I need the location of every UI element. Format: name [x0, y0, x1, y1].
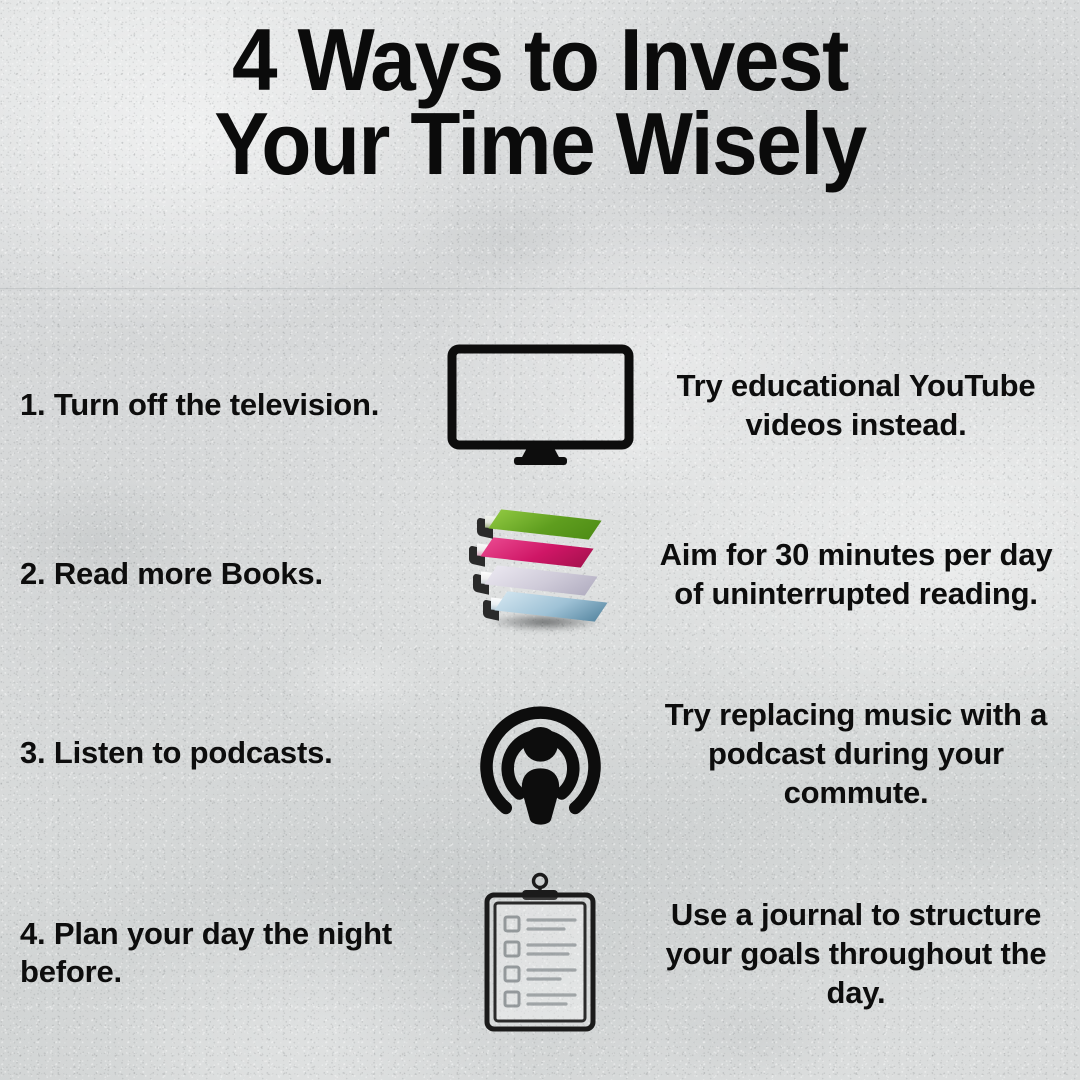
- tip-icon-column: [440, 509, 640, 639]
- tip-left-column: 4. Plan your day the night before.: [0, 915, 440, 991]
- tips-list: 1. Turn off the television. Try educatio…: [0, 318, 1080, 1080]
- tip-title: 2. Read more Books.: [20, 555, 440, 593]
- tip-advice: Aim for 30 minutes per day of uninterrup…: [646, 535, 1066, 613]
- tip-advice: Try educational YouTube videos instead.: [646, 366, 1066, 444]
- page-title: 4 Ways to Invest Your Time Wisely: [0, 18, 1080, 186]
- list-item: 2. Read more Books.: [0, 496, 1080, 651]
- tip-icon-column: [440, 678, 640, 828]
- title-line-1: 4 Ways to Invest: [38, 18, 1042, 102]
- clipboard-checklist-icon: [480, 873, 600, 1033]
- book-blue: [483, 597, 611, 624]
- television-icon: [448, 345, 633, 465]
- list-item: 3. Listen to podcasts.: [0, 663, 1080, 843]
- tip-title: 4. Plan your day the night before.: [20, 915, 440, 991]
- concrete-seam-line: [0, 287, 1080, 290]
- list-item: 4. Plan your day the night before.: [0, 858, 1080, 1048]
- tip-title: 1. Turn off the television.: [20, 386, 440, 424]
- title-line-2: Your Time Wisely: [38, 102, 1042, 186]
- book-white: [473, 571, 601, 598]
- tip-right-column: Try educational YouTube videos instead.: [640, 366, 1080, 444]
- tip-icon-column: [440, 345, 640, 465]
- tip-right-column: Use a journal to structure your goals th…: [640, 895, 1080, 1012]
- book-pink: [469, 543, 597, 570]
- book-green: [477, 515, 605, 542]
- list-item: 1. Turn off the television. Try educatio…: [0, 330, 1080, 480]
- tip-left-column: 2. Read more Books.: [0, 555, 440, 593]
- tip-right-column: Aim for 30 minutes per day of uninterrup…: [640, 535, 1080, 613]
- tip-icon-column: [440, 873, 640, 1033]
- podcast-icon: [473, 678, 608, 828]
- book-stack-icon: [455, 509, 625, 639]
- infographic-poster: 4 Ways to Invest Your Time Wisely 1. Tur…: [0, 0, 1080, 1080]
- tip-title: 3. Listen to podcasts.: [20, 734, 440, 772]
- tip-right-column: Try replacing music with a podcast durin…: [640, 695, 1080, 812]
- tip-left-column: 1. Turn off the television.: [0, 386, 440, 424]
- tip-left-column: 3. Listen to podcasts.: [0, 734, 440, 772]
- tip-advice: Try replacing music with a podcast durin…: [646, 695, 1066, 812]
- tip-advice: Use a journal to structure your goals th…: [646, 895, 1066, 1012]
